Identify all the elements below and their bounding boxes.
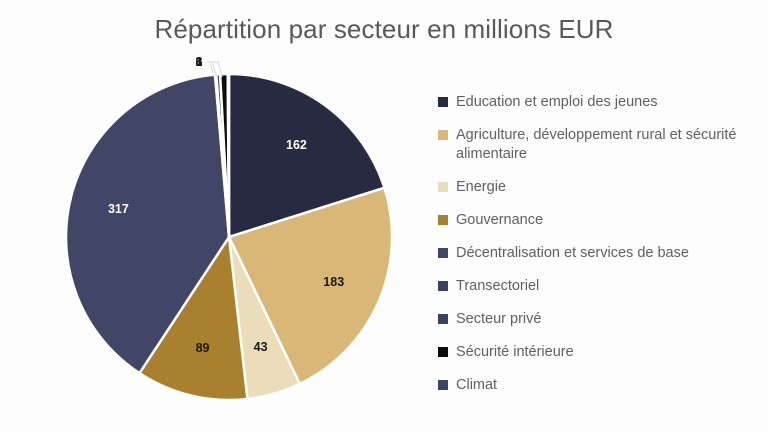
- legend-item[interactable]: Energie: [438, 178, 764, 197]
- pie-slices-group: [66, 74, 392, 400]
- legend-swatch-icon: [438, 314, 448, 324]
- legend-item[interactable]: Sécurité intérieure: [438, 343, 764, 362]
- legend-swatch-icon: [438, 380, 448, 390]
- legend-item[interactable]: Secteur privé: [438, 310, 764, 329]
- legend-swatch-icon: [438, 97, 448, 107]
- legend-item-label: Energie: [456, 178, 506, 197]
- legend-item[interactable]: Décentralisation et services de base: [438, 244, 764, 263]
- pie-slice[interactable]: [228, 74, 229, 237]
- pie-chart-figure: Répartition par secteur en millions EUR …: [0, 0, 768, 432]
- legend-item-label: Décentralisation et services de base: [456, 244, 689, 263]
- legend-swatch-icon: [438, 182, 448, 192]
- legend-item-label: Sécurité intérieure: [456, 343, 574, 362]
- legend-swatch-icon: [438, 215, 448, 225]
- legend-swatch-icon: [438, 347, 448, 357]
- legend-item[interactable]: Climat: [438, 376, 764, 395]
- chart-legend: Education et emploi des jeunes Agricultu…: [438, 93, 764, 409]
- legend-item-label: Secteur privé: [456, 310, 541, 329]
- legend-swatch-icon: [438, 281, 448, 291]
- legend-item[interactable]: Gouvernance: [438, 211, 764, 230]
- legend-item[interactable]: Agriculture, développement rural et sécu…: [438, 126, 764, 164]
- legend-swatch-icon: [438, 130, 448, 140]
- legend-item-label: Climat: [456, 376, 497, 395]
- legend-item-label: Agriculture, développement rural et sécu…: [456, 126, 764, 164]
- legend-item-label: Education et emploi des jeunes: [456, 93, 658, 112]
- legend-item[interactable]: Transectoriel: [438, 277, 764, 296]
- legend-item[interactable]: Education et emploi des jeunes: [438, 93, 764, 112]
- pie-svg: [0, 0, 430, 432]
- legend-item-label: Gouvernance: [456, 211, 543, 230]
- legend-swatch-icon: [438, 248, 448, 258]
- pie-plot-area: 1621834389317136: [0, 0, 430, 432]
- legend-item-label: Transectoriel: [456, 277, 539, 296]
